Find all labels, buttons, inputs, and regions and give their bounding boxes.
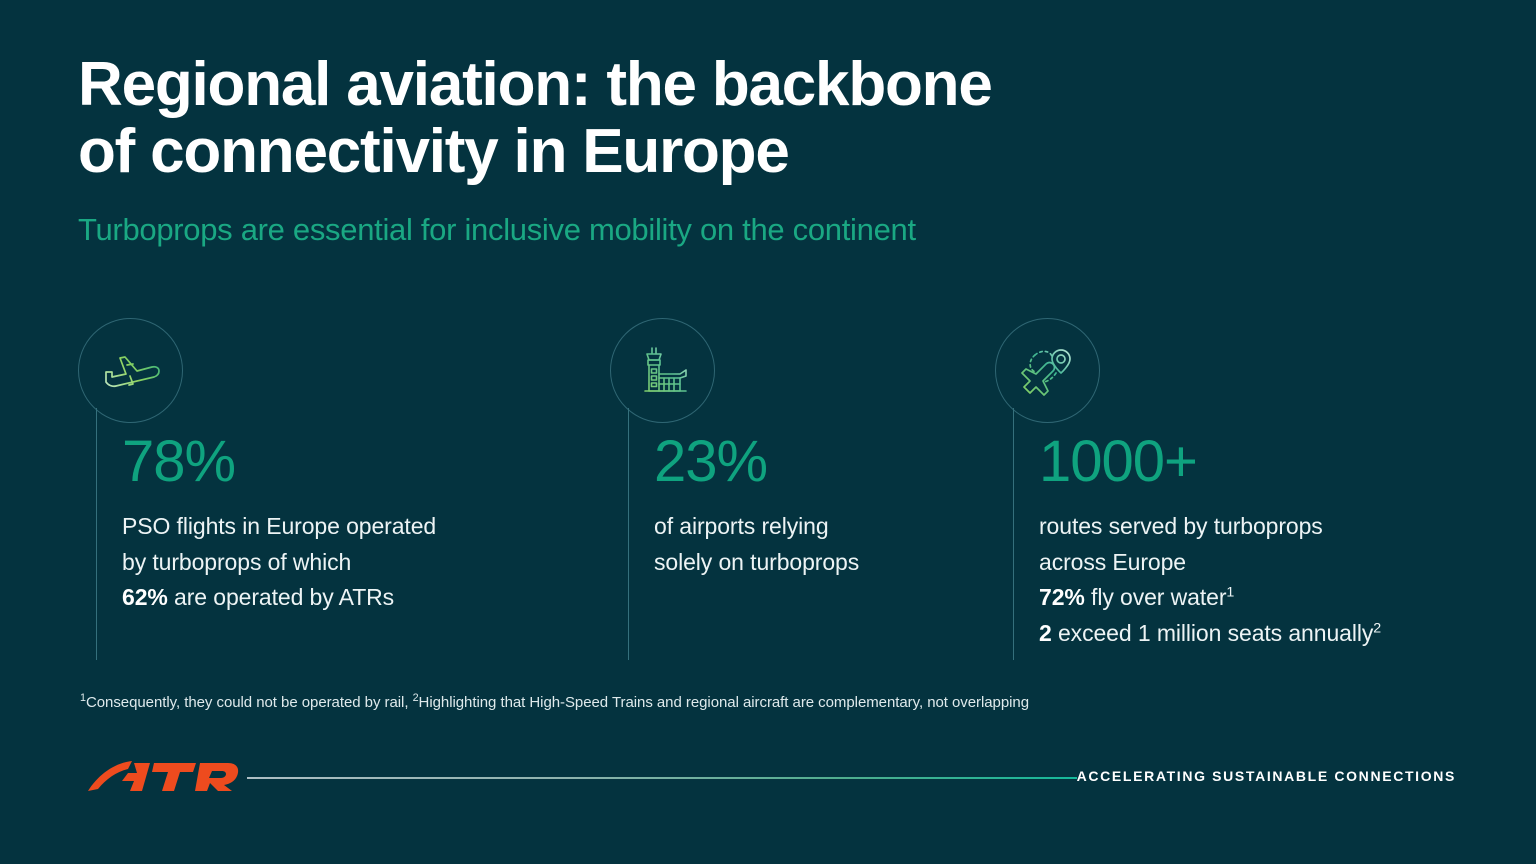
stat-line-emphasis: 72% — [1039, 584, 1085, 610]
stat-line: 62% are operated by ATRs — [122, 580, 582, 616]
stat-line-rest: are operated by ATRs — [168, 584, 394, 610]
footnote-ref: 1 — [1226, 585, 1234, 601]
footnote-text-2: Highlighting that High-Speed Trains and … — [419, 694, 1029, 711]
atr-logo — [84, 755, 244, 799]
footnote-ref: 2 — [1373, 620, 1381, 636]
footer-tagline: ACCELERATING SUSTAINABLE CONNECTIONS — [1077, 768, 1456, 784]
stat-value-0: 78% — [122, 433, 582, 491]
header: Regional aviation: the backbone of conne… — [78, 52, 1408, 248]
footer-divider — [247, 777, 1077, 779]
stat-connector-line — [628, 408, 629, 660]
stat-body-2: 1000+ routes served by turboprops across… — [1039, 433, 1499, 652]
infographic-poster: Regional aviation: the backbone of conne… — [0, 0, 1536, 864]
stat-description-2: routes served by turboprops across Europ… — [1039, 509, 1499, 652]
stat-value-2: 1000+ — [1039, 433, 1499, 491]
footnote-text-1: Consequently, they could not be operated… — [86, 694, 413, 711]
stat-line-rest: fly over water — [1085, 584, 1227, 610]
stat-line: by turboprops of which — [122, 545, 582, 581]
stat-line-emphasis: 2 — [1039, 620, 1052, 646]
footnote: 1Consequently, they could not be operate… — [80, 692, 1029, 713]
page-title: Regional aviation: the backbone of conne… — [78, 52, 1408, 186]
page-subtitle: Turboprops are essential for inclusive m… — [78, 212, 1408, 248]
stat-line-emphasis: 62% — [122, 584, 168, 610]
stat-connector-line — [96, 408, 97, 660]
control-tower-icon — [610, 318, 715, 423]
stat-line: PSO flights in Europe operated — [122, 509, 582, 545]
stat-body-0: 78% PSO flights in Europe operated by tu… — [122, 433, 582, 616]
stats-row: 78% PSO flights in Europe operated by tu… — [0, 318, 1536, 668]
stat-line: across Europe — [1039, 545, 1499, 581]
stat-line-rest: exceed 1 million seats annually — [1052, 620, 1374, 646]
stat-description-0: PSO flights in Europe operated by turbop… — [122, 509, 582, 616]
footer: ACCELERATING SUSTAINABLE CONNECTIONS — [0, 755, 1536, 815]
stat-line: 72% fly over water1 — [1039, 580, 1499, 616]
stat-connector-line — [1013, 408, 1014, 660]
route-map-pin-icon — [995, 318, 1100, 423]
stat-line: routes served by turboprops — [1039, 509, 1499, 545]
airplane-icon — [78, 318, 183, 423]
stat-line: 2 exceed 1 million seats annually2 — [1039, 616, 1499, 652]
